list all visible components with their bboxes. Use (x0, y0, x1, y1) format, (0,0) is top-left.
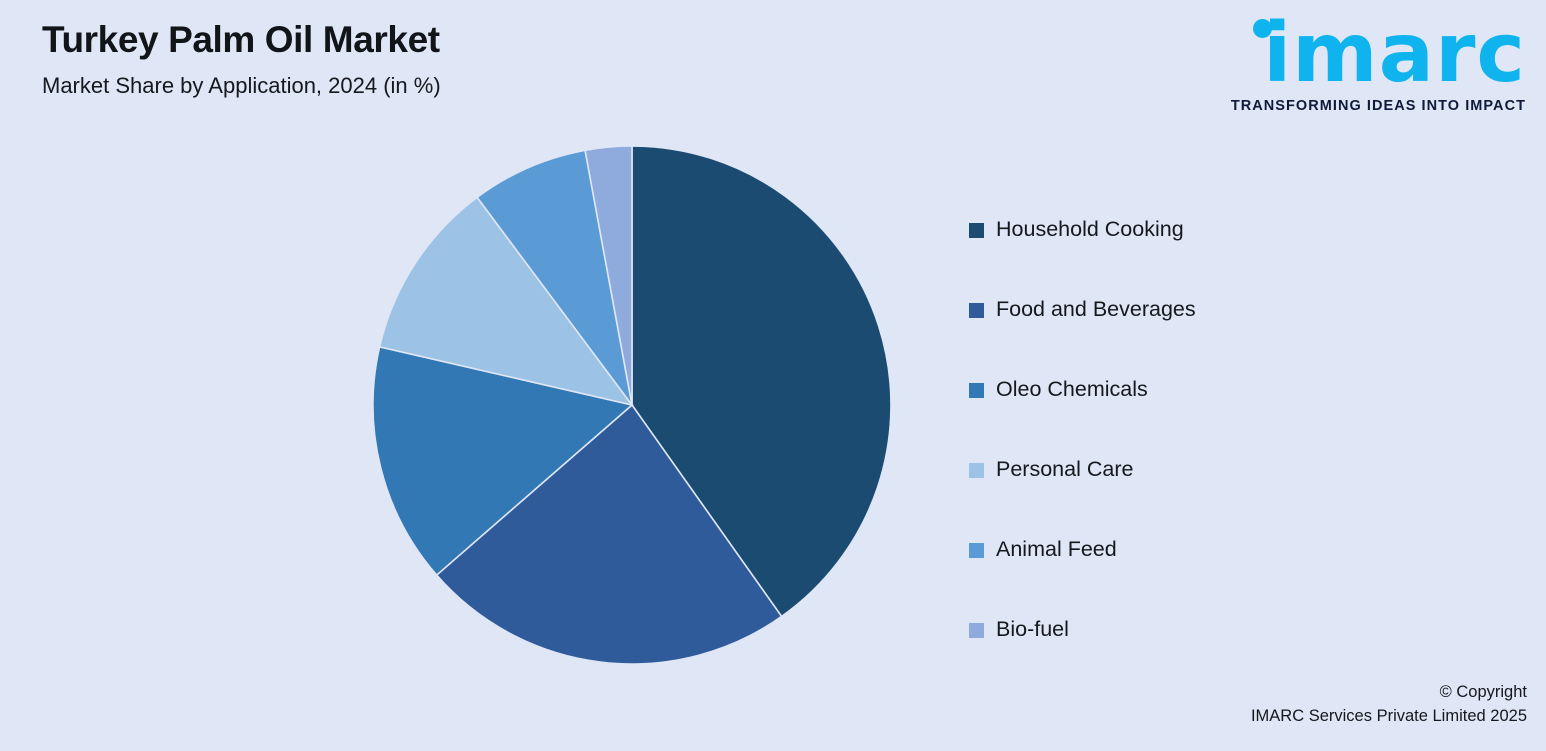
chart-legend: Household CookingFood and BeveragesOleo … (969, 190, 1389, 670)
copyright-line-1: © Copyright (1251, 681, 1527, 705)
legend-item[interactable]: Bio-fuel (969, 590, 1389, 670)
legend-swatch-icon (969, 383, 984, 398)
legend-item[interactable]: Personal Care (969, 430, 1389, 510)
chart-subtitle: Market Share by Application, 2024 (in %) (42, 61, 942, 99)
pie-chart (372, 145, 892, 665)
legend-item-label: Personal Care (996, 459, 1133, 481)
legend-item[interactable]: Food and Beverages (969, 270, 1389, 350)
legend-swatch-icon (969, 623, 984, 638)
imarc-logo: imarc TRANSFORMING IDEAS INTO IMPACT (1228, 16, 1528, 114)
legend-item-label: Animal Feed (996, 539, 1117, 561)
legend-item-label: Food and Beverages (996, 299, 1196, 321)
legend-swatch-icon (969, 223, 984, 238)
legend-swatch-icon (969, 543, 984, 558)
pie-chart-svg (372, 145, 892, 665)
chart-header: Turkey Palm Oil Market Market Share by A… (42, 20, 942, 99)
legend-item-label: Household Cooking (996, 219, 1184, 241)
copyright-line-2: IMARC Services Private Limited 2025 (1251, 705, 1527, 729)
logo-dot-icon (1253, 19, 1272, 38)
legend-item[interactable]: Household Cooking (969, 190, 1389, 270)
legend-item[interactable]: Animal Feed (969, 510, 1389, 590)
legend-item-label: Bio-fuel (996, 619, 1069, 641)
copyright-notice: © Copyright IMARC Services Private Limit… (1251, 681, 1527, 729)
legend-item[interactable]: Oleo Chemicals (969, 350, 1389, 430)
legend-swatch-icon (969, 303, 984, 318)
legend-swatch-icon (969, 463, 984, 478)
chart-canvas: Turkey Palm Oil Market Market Share by A… (0, 0, 1546, 751)
logo-wordmark: imarc (1228, 16, 1528, 91)
page-title: Turkey Palm Oil Market (42, 20, 942, 61)
legend-item-label: Oleo Chemicals (996, 379, 1148, 401)
